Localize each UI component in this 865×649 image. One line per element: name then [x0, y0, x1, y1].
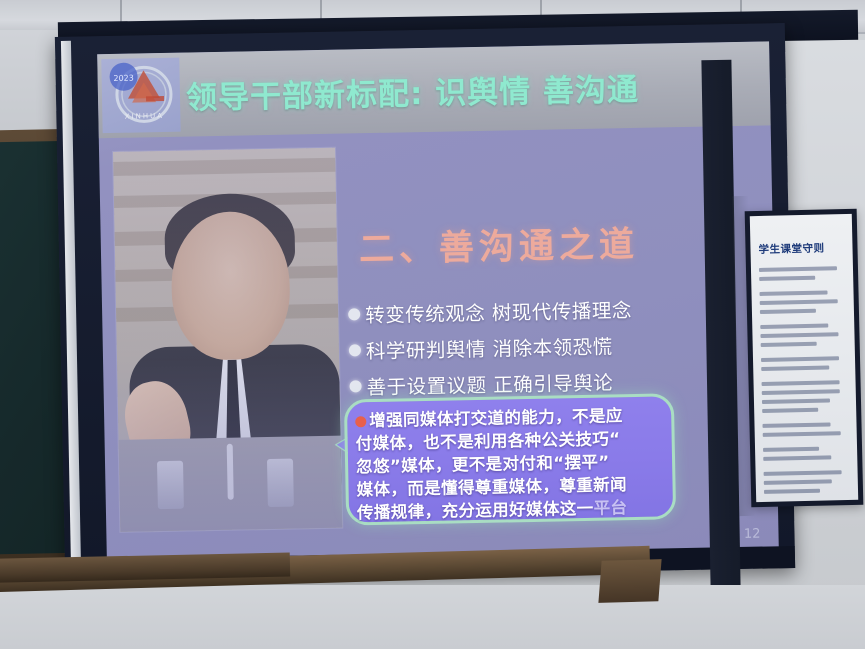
svg-text:XINHUA: XINHUA [125, 112, 164, 121]
poster-paper: 学生课堂守则 [750, 214, 858, 502]
quote-line-1: 增强同媒体打交道的能力，不是应 [369, 406, 623, 430]
slide-header: 2023 XINHUA 领导干部新标配: 识舆情 善沟通 [97, 41, 770, 138]
quote-callout: 增强同媒体打交道的能力，不是应 付媒体，也不是利用各种公关技巧“ 忽悠”媒体，更… [344, 393, 676, 525]
quote-line-4: 媒体，而是懂得尊重媒体，尊重新闻 [356, 475, 627, 499]
bullet-text: 转变传统观念 树现代传播理念 [365, 294, 632, 328]
bullet-dot-icon [349, 380, 361, 392]
bullet-dot-icon [348, 308, 360, 320]
quote-text: 增强同媒体打交道的能力，不是应 付媒体，也不是利用各种公关技巧“ 忽悠”媒体，更… [355, 403, 664, 524]
quote-line-2: 付媒体，也不是利用各种公关技巧“ [356, 429, 621, 453]
slide-page-number: 12 [744, 527, 761, 542]
quote-bullet-icon [355, 416, 366, 427]
classroom-photo-scene: 2023 XINHUA 领导干部新标配: 识舆情 善沟通 [0, 0, 865, 649]
classroom-rules-poster: 学生课堂守则 [745, 209, 864, 507]
svg-text:2023: 2023 [113, 74, 134, 83]
projected-slide: 2023 XINHUA 领导干部新标配: 识舆情 善沟通 [97, 41, 779, 562]
quote-line-3: 忽悠”媒体，更不是对付和“摆平” [356, 452, 610, 476]
quote-last-word: 平台 [593, 498, 627, 518]
speaker-photo [113, 148, 342, 532]
poster-title: 学生课堂守则 [758, 240, 852, 257]
section-heading: 二、善沟通之道 [358, 216, 639, 272]
bullet-dot-icon [349, 344, 361, 356]
xinhua-emblem-logo: 2023 XINHUA [101, 58, 180, 133]
quote-line-5: 传播规律，充分运用好媒体这一 [357, 499, 594, 523]
photo-projection-tint [113, 148, 342, 532]
slide-title: 领导干部新标配: 识舆情 善沟通 [186, 63, 640, 117]
projector-screen: 2023 XINHUA 领导干部新标配: 识舆情 善沟通 [55, 23, 795, 582]
chalk-ledge-end-cap [598, 559, 661, 603]
bullet-text: 科学研判舆情 消除本领恐慌 [366, 330, 613, 364]
lower-wall [0, 585, 865, 649]
